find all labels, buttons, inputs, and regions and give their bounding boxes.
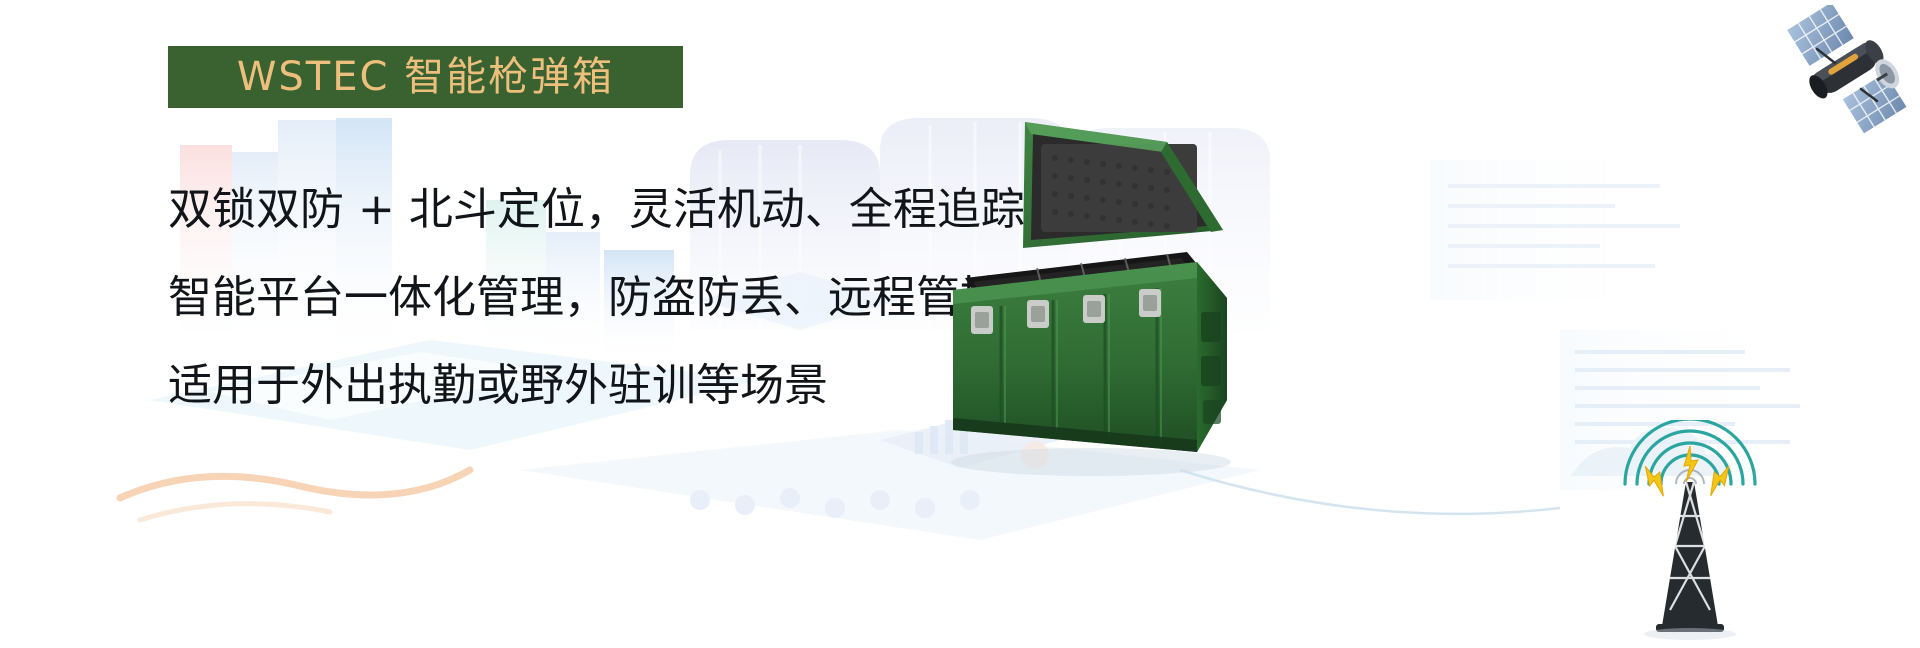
case-side-panel bbox=[1201, 312, 1221, 424]
promo-banner: WSTEC 智能枪弹箱 双锁双防 + 北斗定位，灵活机动、全程追踪 智能平台一体… bbox=[0, 0, 1920, 648]
product-image-gun-case bbox=[905, 100, 1265, 500]
satellite-icon bbox=[1775, 5, 1915, 135]
tower-structure bbox=[1662, 482, 1718, 626]
case-body bbox=[953, 262, 1227, 452]
signal-tower-icon bbox=[1600, 420, 1780, 640]
case-lid bbox=[1023, 122, 1223, 248]
title-plate: WSTEC 智能枪弹箱 bbox=[168, 46, 683, 108]
page-title: WSTEC 智能枪弹箱 bbox=[237, 57, 614, 97]
